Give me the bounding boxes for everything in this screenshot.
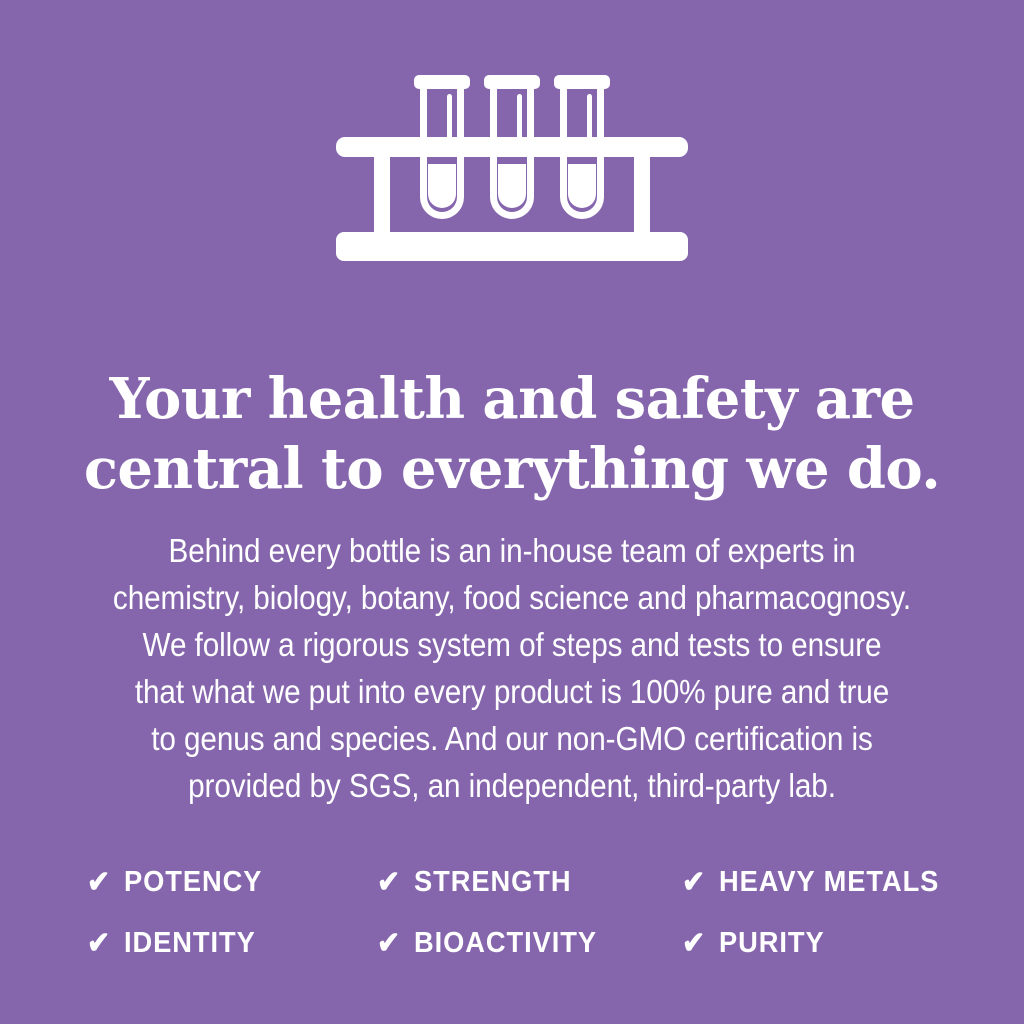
icon-container <box>0 62 1024 272</box>
checklist-item-potency: ✔ POTENCY <box>86 868 376 898</box>
checklist-item-bioactivity: ✔ BIOACTIVITY <box>376 929 681 959</box>
checklist-item-label: POTENCY <box>124 868 262 897</box>
checklist-item-label: BIOACTIVITY <box>414 929 597 958</box>
test-tube-rack-icon <box>332 62 692 267</box>
checklist-item-identity: ✔ IDENTITY <box>86 929 376 959</box>
test-checklist: ✔ POTENCY ✔ STRENGTH ✔ HEAVY METALS ✔ ID… <box>86 852 952 974</box>
check-icon: ✔ <box>682 928 705 959</box>
checklist-item-label: PURITY <box>719 929 825 958</box>
check-icon: ✔ <box>87 928 110 959</box>
checklist-item-label: HEAVY METALS <box>719 868 939 897</box>
check-icon: ✔ <box>377 928 400 959</box>
checklist-item-purity: ✔ PURITY <box>681 929 952 959</box>
body-paragraph: Behind every bottle is an in-house team … <box>107 527 917 809</box>
checklist-item-heavy-metals: ✔ HEAVY METALS <box>681 868 952 898</box>
checklist-item-label: STRENGTH <box>414 868 571 897</box>
checklist-item-strength: ✔ STRENGTH <box>376 868 681 898</box>
checklist-item-label: IDENTITY <box>124 929 256 958</box>
check-icon: ✔ <box>682 867 705 898</box>
check-icon: ✔ <box>87 867 110 898</box>
check-icon: ✔ <box>377 867 400 898</box>
page-title: Your health and safety are central to ev… <box>0 364 1024 504</box>
quality-assurance-panel: Your health and safety are central to ev… <box>0 0 1024 1024</box>
